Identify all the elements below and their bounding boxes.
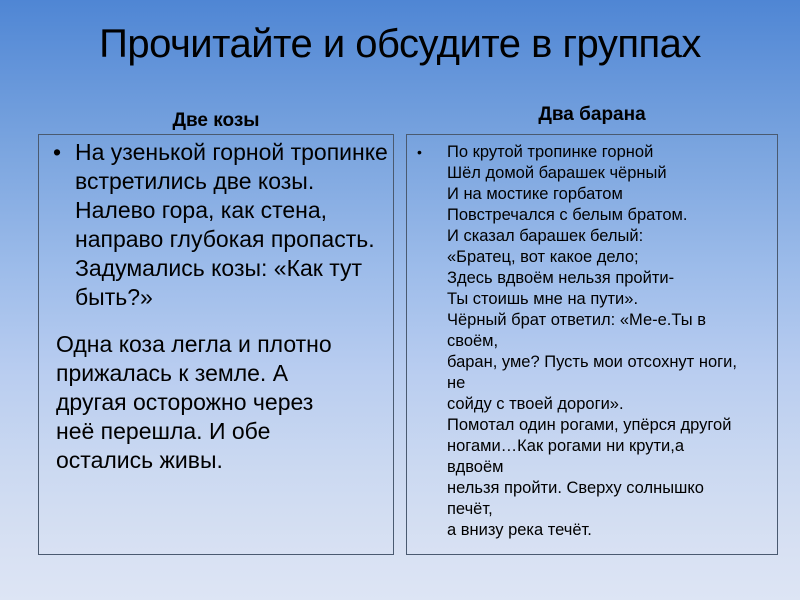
column-heading-right: Два барана (406, 104, 778, 126)
left-paragraph-1: • На узенькой горной тропинке встретилис… (46, 138, 396, 312)
left-column-text: • На узенькой горной тропинке встретилис… (46, 138, 396, 475)
slide-canvas: Прочитайте и обсудите в группах Две козы… (0, 0, 800, 600)
right-column-text: • По крутой тропинке горной Шёл домой ба… (412, 142, 784, 541)
left-paragraph-2: Одна коза легла и плотно прижалась к зем… (46, 330, 396, 475)
page-title: Прочитайте и обсудите в группах (60, 18, 740, 70)
paragraph-spacer (46, 312, 396, 330)
column-heading-left: Две козы (38, 110, 394, 132)
bullet-icon: • (53, 138, 61, 167)
left-paragraph-1-text: На узенькой горной тропинке встретились … (75, 139, 388, 310)
bullet-icon: • (417, 142, 422, 163)
right-paragraph-1-text: По крутой тропинке горной Шёл домой бара… (447, 143, 737, 539)
right-paragraph-1: • По крутой тропинке горной Шёл домой ба… (412, 142, 784, 541)
